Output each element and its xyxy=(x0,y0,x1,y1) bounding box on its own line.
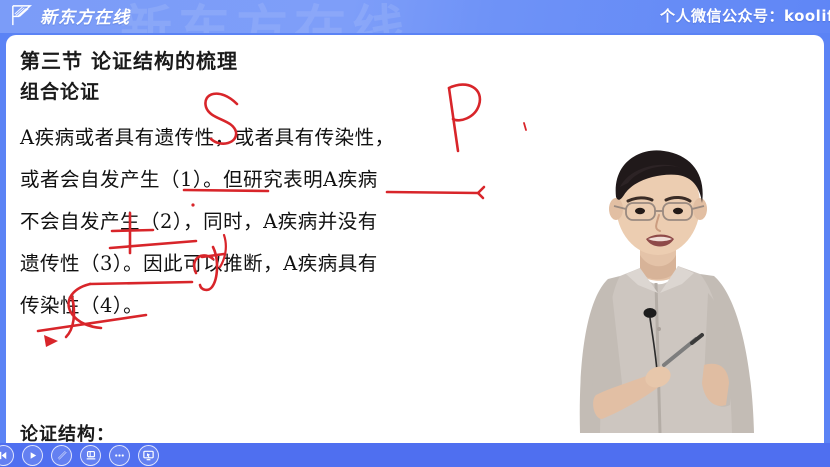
previous-page-button[interactable] xyxy=(0,445,14,466)
pen-button[interactable] xyxy=(51,445,72,466)
eraser-button[interactable] xyxy=(80,445,101,466)
brand-block: 新东方在线 xyxy=(9,3,130,28)
lecture-video-player: 新东方在线 新东方在线 个人微信公众号：kool xyxy=(0,0,830,467)
pen-icon xyxy=(55,449,68,462)
body-line: 遗传性（3）。因此可以推断，A疾病具有 xyxy=(20,243,520,285)
header-watermark: 新东方在线 xyxy=(120,0,410,33)
previous-icon xyxy=(0,450,9,461)
play-icon xyxy=(27,450,38,461)
slide-body: A疾病或者具有遗传性，或者具有传染性， 或者会自发产生（1）。但研究表明A疾病 … xyxy=(20,117,520,327)
annotation-tick xyxy=(524,123,526,130)
brand-name: 新东方在线 xyxy=(40,3,130,28)
more-options-button[interactable] xyxy=(109,445,130,466)
flag-logo-icon xyxy=(9,3,34,28)
body-line: 不会自发产生（2），同时，A疾病并没有 xyxy=(20,201,520,243)
lecturer-video-overlay xyxy=(568,143,818,433)
body-line: 传染性（4）。 xyxy=(20,285,520,327)
wechat-promo-text: 个人微信公众号：koolif xyxy=(660,5,830,26)
player-toolbar xyxy=(0,443,830,467)
screen-pointer-icon xyxy=(142,449,155,462)
annotation-letter-p-bowl xyxy=(449,85,480,121)
slide-board: 第三节 论证结构的梳理 组合论证 A疾病或者具有遗传性，或者具有传染性， 或者会… xyxy=(6,35,824,450)
slide-title: 第三节 论证结构的梳理 xyxy=(20,45,238,74)
body-line: 或者会自发产生（1）。但研究表明A疾病 xyxy=(20,159,520,201)
slide-subtitle: 组合论证 xyxy=(20,77,100,104)
laser-pointer-button[interactable] xyxy=(138,445,159,466)
play-button[interactable] xyxy=(22,445,43,466)
eraser-icon xyxy=(85,449,97,461)
ellipsis-icon xyxy=(113,449,126,462)
body-line: A疾病或者具有遗传性，或者具有传染性， xyxy=(20,117,520,159)
annotation-caret xyxy=(44,335,58,347)
app-header: 新东方在线 新东方在线 个人微信公众号：kool xyxy=(0,0,830,33)
